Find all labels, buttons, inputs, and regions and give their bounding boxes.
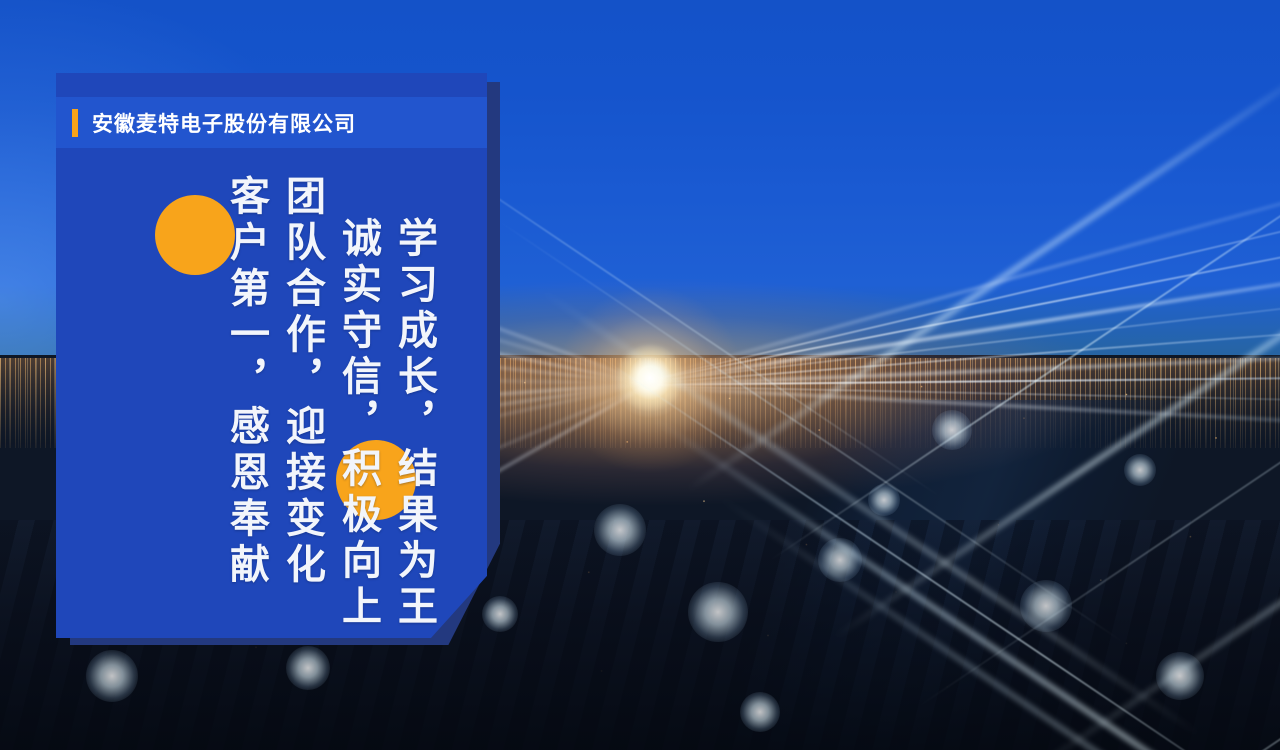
company-name: 安徽麦特电子股份有限公司 (92, 108, 356, 138)
slogan-column-2: 诚实守信，积极向上 (337, 217, 379, 631)
panel-title-row: 安徽麦特电子股份有限公司 (56, 97, 487, 148)
slogan-column-4: 客户第一，感恩奉献 (225, 175, 267, 589)
slogan-column-1: 学习成长，结果为王 (393, 217, 435, 631)
slide-canvas: 安徽麦特电子股份有限公司 学习成长，结果为王 诚实守信，积极向上 团队合作，迎接… (0, 0, 1280, 750)
accent-bar-icon (72, 109, 78, 137)
slogan-column-3: 团队合作，迎接变化 (281, 175, 323, 589)
slogan-columns: 学习成长，结果为王 诚实守信，积极向上 团队合作，迎接变化 客户第一，感恩奉献 (56, 175, 487, 615)
